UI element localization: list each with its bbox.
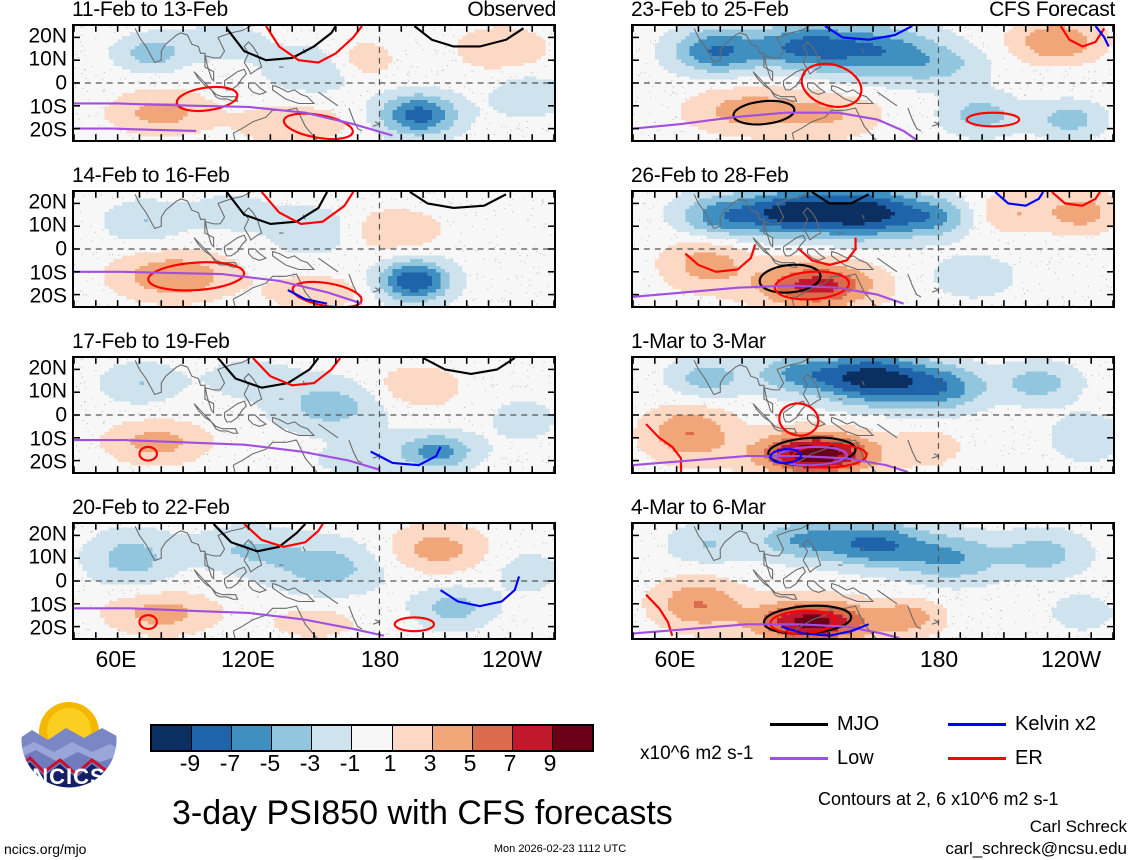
panel-title: 11-Feb to 13-Feb [72,0,228,20]
y-axis-tick-label: 20N [28,357,67,378]
y-axis-tick-label: 10N [28,215,67,236]
column-header-forecast: CFS Forecast [989,0,1115,20]
panel-title: 4-Mar to 6-Mar [631,497,766,518]
x-axis-tick-label: 120E [780,648,834,671]
x-axis-tick-label: 120E [221,648,275,671]
site-url[interactable]: ncics.org/mjo [4,842,86,856]
map-panel: 20-Feb to 22-Feb20N10N010S20S60E120E1801… [72,522,556,640]
x-axis-tick-label: 120W [1041,648,1101,671]
map-field [72,24,556,142]
x-axis-tick-label: 180 [920,648,958,671]
map-field [631,522,1115,640]
map-panel: 11-Feb to 13-FebObserved20N10N010S20S [72,24,556,142]
colorbar-swatch [352,726,392,750]
legend-swatch-er [948,757,1006,760]
y-axis-tick-label: 20N [28,25,67,46]
y-axis-tick-label: 20N [28,523,67,544]
legend-label-kelvin: Kelvin x2 [1015,714,1096,734]
author-email: carl_schreck@ncsu.edu [945,840,1127,857]
colorbar-swatch [272,726,312,750]
map-field [631,356,1115,474]
y-axis-tick-label: 20S [30,618,67,639]
generation-timestamp: Mon 2026-02-23 1112 UTC [494,844,626,855]
contour-interval-note: Contours at 2, 6 x10^6 m2 s-1 [818,790,1059,808]
colorbar-tick-label: 7 [504,752,517,775]
map-panel: 14-Feb to 16-Feb20N10N010S20S [72,190,556,308]
map-panel: 17-Feb to 19-Feb20N10N010S20S [72,356,556,474]
y-axis-tick-label: 0 [55,405,67,426]
legend-entry-kelvin: Kelvin x2 [948,714,1096,734]
y-axis-tick-label: 10S [30,428,67,449]
legend-swatch-kelvin [948,723,1006,726]
panel-title: 26-Feb to 28-Feb [631,165,788,186]
map-field [72,190,556,308]
map-field [72,356,556,474]
column-header-observed: Observed [467,0,556,20]
panel-title: 1-Mar to 3-Mar [631,331,766,352]
x-axis-tick-label: 60E [655,648,696,671]
colorbar-swatch [393,726,433,750]
colorbar-tick-label: 3 [424,752,437,775]
colorbar-tick-label: 1 [384,752,397,775]
x-axis-tick-label: 180 [361,648,399,671]
colorbar-swatch [513,726,553,750]
legend-label-er: ER [1015,748,1043,768]
legend-swatch-mjo [770,723,828,726]
colorbar-swatch [473,726,513,750]
colorbar-swatch [553,726,592,750]
main-title: 3-day PSI850 with CFS forecasts [172,796,673,830]
legend-entry-mjo: MJO [770,714,879,734]
contour-legend: MJO Kelvin x2 Low ER [770,714,1100,776]
colorbar-tick-label: -7 [220,752,240,775]
colorbar-tick-label: -9 [180,752,200,775]
legend-entry-er: ER [948,748,1043,768]
y-axis-tick-label: 10S [30,262,67,283]
y-axis-tick-label: 10N [28,547,67,568]
panel-title: 23-Feb to 25-Feb [631,0,788,20]
panel-title: 20-Feb to 22-Feb [72,497,229,518]
map-field [631,24,1115,142]
map-field [631,190,1115,308]
colorbar-tick-label: 5 [464,752,477,775]
y-axis-tick-label: 10S [30,96,67,117]
colorbar-swatch [192,726,232,750]
map-panel: 4-Mar to 6-Mar60E120E180120W [631,522,1115,640]
y-axis-tick-label: 10N [28,381,67,402]
y-axis-tick-label: 20N [28,191,67,212]
y-axis-tick-label: 20S [30,120,67,141]
map-panel: 1-Mar to 3-Mar [631,356,1115,474]
author-name: Carl Schreck [1030,818,1127,835]
colorbar-tick-label: -1 [340,752,360,775]
y-axis-tick-label: 0 [55,239,67,260]
panel-title: 14-Feb to 16-Feb [72,165,229,186]
y-axis-tick-label: 20S [30,452,67,473]
y-axis-tick-label: 0 [55,73,67,94]
map-field [72,522,556,640]
y-axis-tick-label: 0 [55,571,67,592]
figure-root: 11-Feb to 13-FebObserved20N10N010S20S 14… [0,0,1135,860]
ncics-logo: NCICS [14,690,124,790]
colorbar-tick-label: -5 [260,752,280,775]
panel-title: 17-Feb to 19-Feb [72,331,229,352]
map-panel: 26-Feb to 28-Feb [631,190,1115,308]
legend-swatch-low [770,757,828,760]
legend-label-low: Low [837,748,874,768]
colorbar-units-label: x10^6 m2 s-1 [640,744,753,763]
colorbar-swatch [312,726,352,750]
y-axis-tick-label: 20S [30,286,67,307]
legend-entry-low: Low [770,748,874,768]
map-panel: 23-Feb to 25-FebCFS Forecast [631,24,1115,142]
colorbar-swatch [152,726,192,750]
colorbar-swatch [232,726,272,750]
y-axis-tick-label: 10S [30,594,67,615]
colorbar-tick-labels: -9-7-5-3-113579 [150,752,590,778]
colorbar-swatch [433,726,473,750]
colorbar-tick-label: -3 [300,752,320,775]
x-axis-tick-label: 120W [482,648,542,671]
colorbar-tick-label: 9 [544,752,557,775]
legend-label-mjo: MJO [837,714,879,734]
colorbar [150,724,594,752]
x-axis-tick-label: 60E [96,648,137,671]
y-axis-tick-label: 10N [28,49,67,70]
